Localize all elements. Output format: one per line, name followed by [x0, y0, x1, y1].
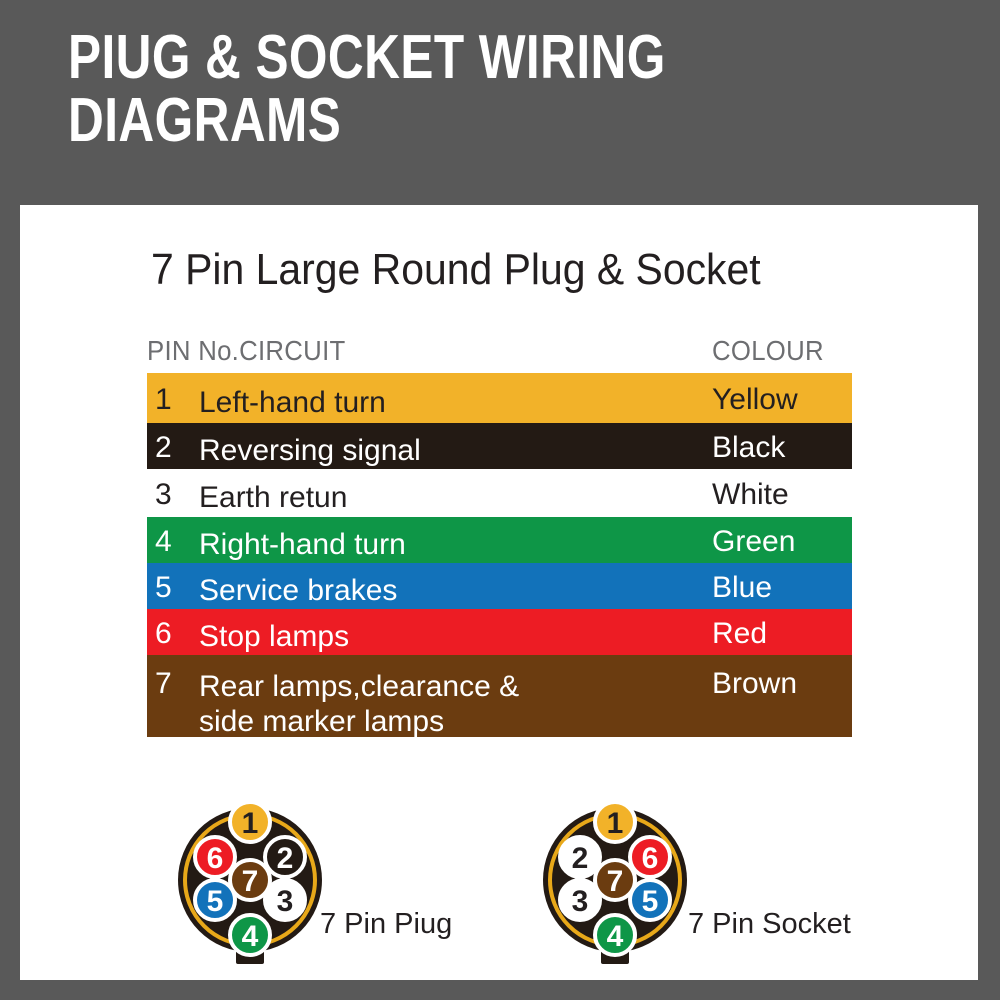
table-row: 1Left-hand turnYellow — [147, 373, 852, 423]
pin-number-label: 6 — [207, 842, 224, 875]
cell-circuit-description: Left-hand turn — [199, 385, 386, 420]
table-row: 3Earth retunWhite — [147, 469, 852, 517]
pin-2: 2 — [265, 837, 305, 877]
cell-circuit-description: Right-hand turn — [199, 527, 406, 562]
pin-number-label: 1 — [607, 807, 624, 840]
pin-circuit-table: PIN No.CIRCUIT COLOUR 1Left-hand turnYel… — [147, 335, 852, 737]
cell-circuit-description: Stop lamps — [199, 619, 349, 654]
cell-pin-number: 7 — [155, 669, 189, 699]
socket-diagram: 1234567 — [525, 780, 705, 975]
plug-diagram: 1234567 — [160, 780, 340, 975]
connector-diagrams: 1234567 1234567 7 Pin Piug 7 Pin Socket — [20, 780, 978, 980]
socket-caption: 7 Pin Socket — [688, 908, 851, 941]
pin-7: 7 — [595, 860, 635, 900]
socket-connector-graphic: 1234567 — [525, 780, 705, 975]
pin-number-label: 5 — [207, 885, 224, 918]
cell-wire-colour: Red — [712, 619, 767, 649]
cell-pin-number: 2 — [155, 433, 189, 463]
pin-6: 6 — [630, 837, 670, 877]
table-row: 2Reversing signalBlack — [147, 423, 852, 469]
table-row: 6Stop lampsRed — [147, 609, 852, 655]
pin-number-label: 4 — [242, 920, 259, 953]
header-banner: PIUG & SOCKET WIRING DIAGRAMS — [0, 0, 1000, 205]
cell-circuit-description: Earth retun — [199, 480, 347, 515]
pin-number-label: 1 — [242, 807, 259, 840]
cell-circuit-description: Reversing signal — [199, 433, 421, 468]
pin-number-label: 4 — [607, 920, 624, 953]
cell-circuit-description: Service brakes — [199, 573, 397, 608]
column-header-circuit: PIN No.CIRCUIT — [147, 335, 346, 367]
pin-number-label: 3 — [572, 885, 589, 918]
cell-pin-number: 3 — [155, 480, 189, 510]
table-header-row: PIN No.CIRCUIT COLOUR — [147, 335, 852, 373]
pin-1: 1 — [230, 802, 270, 842]
cell-circuit-description: Rear lamps,clearance & side marker lamps — [199, 669, 519, 740]
pin-7: 7 — [230, 860, 270, 900]
pin-number-label: 7 — [607, 865, 624, 898]
content-panel: 7 Pin Large Round Plug & Socket PIN No.C… — [20, 205, 978, 980]
cell-wire-colour: Black — [712, 433, 785, 463]
table-row: 5Service brakesBlue — [147, 563, 852, 609]
pin-number-label: 3 — [277, 885, 294, 918]
cell-wire-colour: Green — [712, 527, 795, 557]
pin-number-label: 7 — [242, 865, 259, 898]
pin-4: 4 — [230, 915, 270, 955]
cell-pin-number: 6 — [155, 619, 189, 649]
cell-wire-colour: Blue — [712, 573, 772, 603]
cell-wire-colour: Brown — [712, 669, 797, 699]
cell-pin-number: 4 — [155, 527, 189, 557]
column-header-colour: COLOUR — [712, 335, 824, 367]
pin-6: 6 — [195, 837, 235, 877]
wiring-diagram-page: PIUG & SOCKET WIRING DIAGRAMS 7 Pin Larg… — [0, 0, 1000, 1000]
table-body: 1Left-hand turnYellow2Reversing signalBl… — [147, 373, 852, 737]
pin-number-label: 5 — [642, 885, 659, 918]
cell-pin-number: 5 — [155, 573, 189, 603]
pin-number-label: 6 — [642, 842, 659, 875]
plug-caption: 7 Pin Piug — [320, 908, 452, 941]
pin-4: 4 — [595, 915, 635, 955]
page-title: PIUG & SOCKET WIRING DIAGRAMS — [68, 26, 756, 152]
pin-1: 1 — [595, 802, 635, 842]
cell-wire-colour: White — [712, 480, 789, 510]
table-row: 7Rear lamps,clearance & side marker lamp… — [147, 655, 852, 737]
pin-number-label: 2 — [572, 842, 589, 875]
cell-pin-number: 1 — [155, 385, 189, 415]
plug-connector-graphic: 1234567 — [160, 780, 340, 975]
cell-wire-colour: Yellow — [712, 385, 798, 415]
pin-2: 2 — [560, 837, 600, 877]
table-row: 4Right-hand turnGreen — [147, 517, 852, 563]
section-title: 7 Pin Large Round Plug & Socket — [151, 245, 761, 295]
pin-number-label: 2 — [277, 842, 294, 875]
